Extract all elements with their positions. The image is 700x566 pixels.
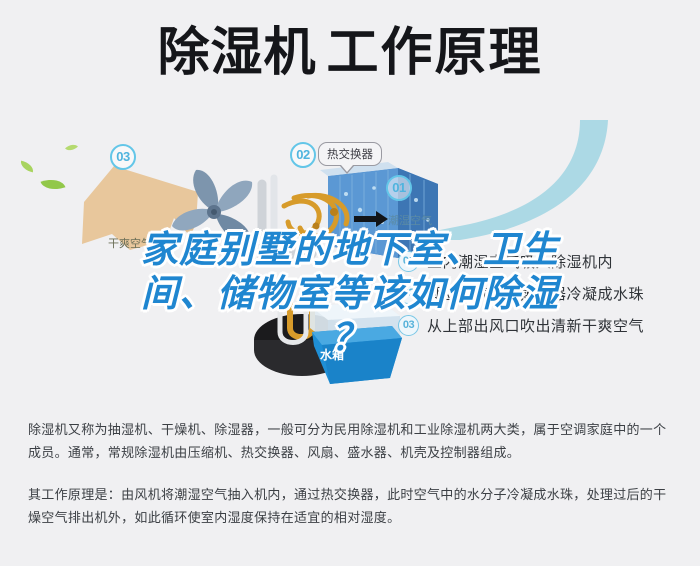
heat-exchanger-callout-label: 热交换器	[327, 149, 373, 161]
legend-item-02: 02 潮湿空气经过蒸发器冷凝成水珠	[398, 277, 690, 309]
water-tank-label: 水箱	[320, 346, 344, 363]
humid-air-swoosh-icon	[430, 120, 660, 240]
article-body: 除湿机又称为抽湿机、干燥机、除湿器，一般可分为民用除湿机和工业除湿机两大类，属于…	[28, 418, 678, 529]
page-title-part2: 工作原理	[327, 26, 543, 81]
article-paragraph-1: 除湿机又称为抽湿机、干燥机、除湿器，一般可分为民用除湿机和工业除湿机两大类，属于…	[28, 418, 678, 464]
diagram-marker-03: 03	[110, 144, 136, 170]
article-paragraph-2: 其工作原理是：由风机将潮湿空气抽入机内，通过热交换器，此时空气中的水分子冷凝成水…	[28, 483, 678, 529]
legend-item-01: 01 室内潮湿空气吸入除湿机内	[398, 245, 690, 277]
leaf-icon	[41, 175, 66, 194]
legend-label: 室内潮湿空气吸入除湿机内	[427, 251, 613, 272]
legend-list: 01 室内潮湿空气吸入除湿机内 02 潮湿空气经过蒸发器冷凝成水珠 03 从上部…	[398, 245, 690, 341]
legend-number: 02	[398, 283, 419, 304]
legend-number: 01	[398, 251, 419, 272]
leaf-icon	[19, 161, 35, 173]
dry-air-label: 干爽空气	[108, 235, 152, 251]
humid-air-label: 潮湿空气	[388, 212, 432, 228]
page-title-part1: 除湿机	[157, 26, 316, 81]
legend-label: 从上部出风口吹出清新干爽空气	[427, 315, 644, 336]
legend-item-03: 03 从上部出风口吹出清新干爽空气	[398, 309, 690, 341]
diagram-marker-02: 02	[290, 142, 316, 168]
legend-label: 潮湿空气经过蒸发器冷凝成水珠	[427, 283, 644, 304]
legend-number: 03	[398, 315, 419, 336]
leaf-icon	[65, 141, 78, 153]
heat-exchanger-callout: 热交换器	[318, 142, 382, 166]
diagram-marker-01: 01	[386, 175, 412, 201]
water-tank-icon	[250, 288, 410, 398]
page-title: 除湿机工作原理	[0, 26, 700, 81]
page-root: 除湿机工作原理 干爽空气	[0, 0, 700, 566]
